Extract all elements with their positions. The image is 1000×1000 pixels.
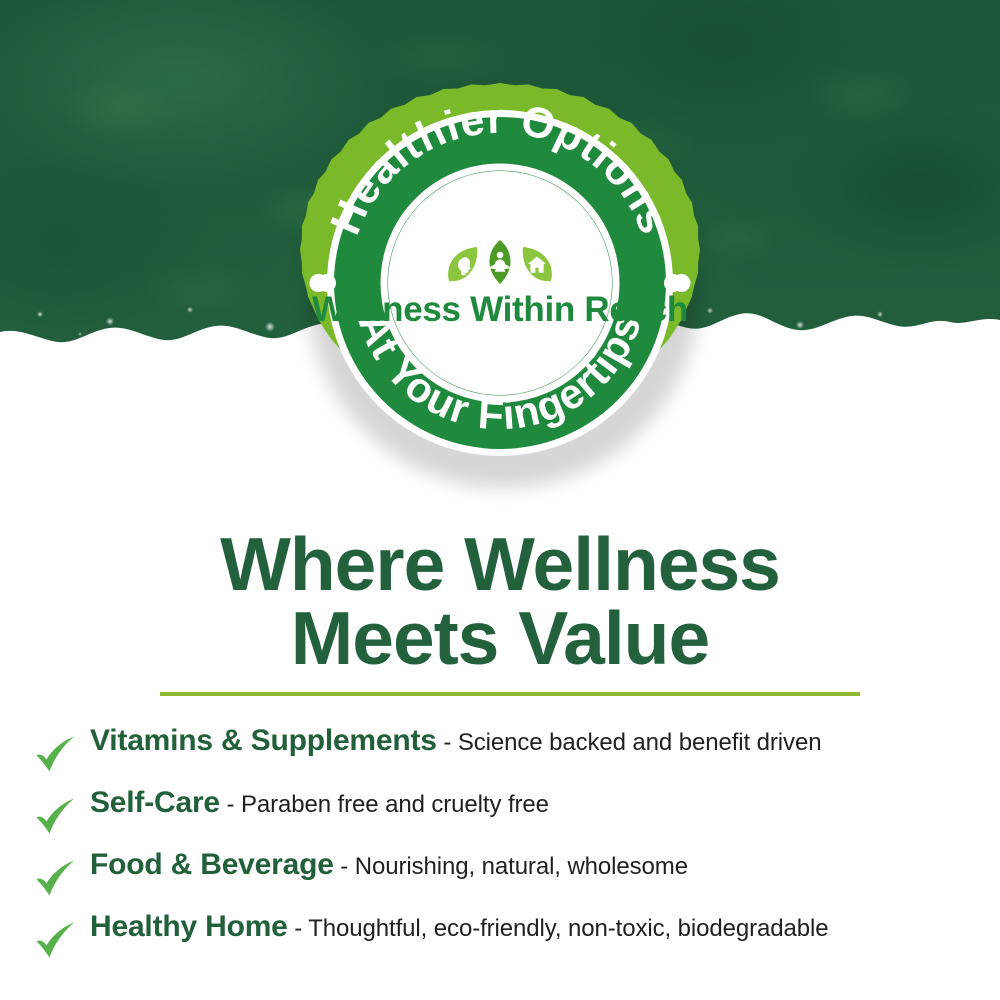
list-item-text: Healthy Home - Thoughtful, eco-friendly,…	[90, 910, 982, 944]
list-item-text: Self-Care - Paraben free and cruelty fre…	[90, 786, 982, 820]
list-item-text: Food & Beverage - Nourishing, natural, w…	[90, 848, 982, 882]
list-item-title: Vitamins & Supplements	[90, 724, 437, 757]
checkmark-icon	[34, 921, 90, 961]
list-item-title: Food & Beverage	[90, 848, 334, 881]
list-item: Food & Beverage - Nourishing, natural, w…	[34, 848, 982, 910]
checkmark-icon	[34, 735, 90, 775]
list-item-desc: - Thoughtful, eco-friendly, non-toxic, b…	[288, 915, 829, 942]
headline-line-2: Meets Value	[0, 601, 1000, 675]
list-item: Vitamins & Supplements - Science backed …	[34, 724, 982, 786]
checkmark-icon	[34, 797, 90, 837]
benefits-list: Vitamins & Supplements - Science backed …	[34, 724, 982, 972]
headline-divider	[160, 692, 860, 696]
badge-graphic: Healthier Options At Your Fingertips	[297, 80, 703, 486]
list-item-desc: - Nourishing, natural, wholesome	[334, 853, 688, 880]
list-item: Healthy Home - Thoughtful, eco-friendly,…	[34, 910, 982, 972]
headline-line-1: Where Wellness	[0, 527, 1000, 601]
list-item-desc: - Science backed and benefit driven	[437, 729, 822, 756]
list-item: Self-Care - Paraben free and cruelty fre…	[34, 786, 982, 848]
checkmark-icon	[34, 859, 90, 899]
list-item-desc: - Paraben free and cruelty free	[220, 791, 549, 818]
promo-banner: Healthier Options At Your Fingertips	[0, 0, 1000, 1000]
list-item-text: Vitamins & Supplements - Science backed …	[90, 724, 982, 758]
list-item-title: Self-Care	[90, 786, 220, 819]
page-headline: Where Wellness Meets Value	[0, 527, 1000, 676]
list-item-title: Healthy Home	[90, 910, 288, 943]
wellness-badge: Healthier Options At Your Fingertips	[297, 80, 703, 486]
